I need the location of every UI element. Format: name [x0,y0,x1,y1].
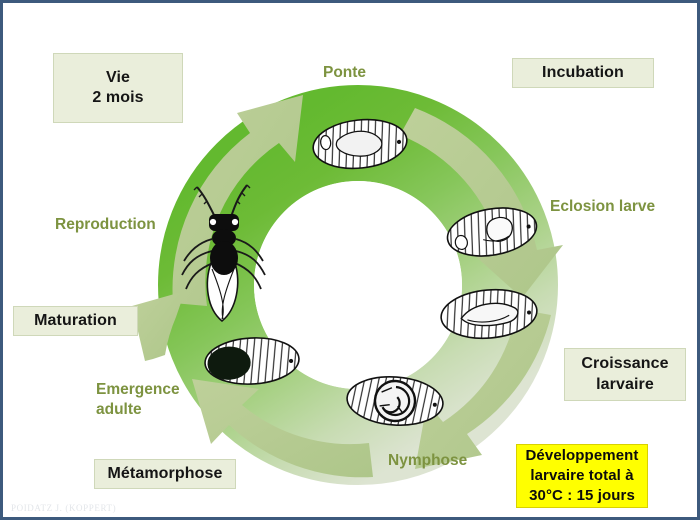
vie-line-2: 2 mois [92,88,143,108]
stage-label-eclosion-larve: Eclosion larve [550,197,655,217]
watermark-credit: POIDATZ J. (KOPPERT) [11,503,116,513]
croissance-line-1: Croissance [581,354,668,374]
label-box-croissance-larvaire: Croissance larvaire [564,348,686,401]
stage-label-ponte: Ponte [323,63,366,83]
label-box-maturation: Maturation [13,306,138,336]
diagram-canvas: Vie 2 mois Incubation Croissance larvair… [0,0,700,520]
label-box-incubation: Incubation [512,58,654,88]
croissance-line-2: larvaire [581,375,668,395]
dev-line-1: Développement [526,446,639,466]
dev-line-3: 30°C : 15 jours [526,486,639,506]
dev-line-2: larvaire total à [526,466,639,486]
label-box-vie: Vie 2 mois [53,53,183,123]
stage-label-emergence-adulte: Emergence adulte [96,380,180,420]
stage-label-reproduction: Reproduction [55,215,156,235]
stage-label-nymphose: Nymphose [388,451,467,471]
label-box-developpement-larvaire: Développement larvaire total à 30°C : 15… [516,444,648,508]
label-box-metamorphose: Métamorphose [94,459,236,489]
vie-line-1: Vie [92,68,143,88]
